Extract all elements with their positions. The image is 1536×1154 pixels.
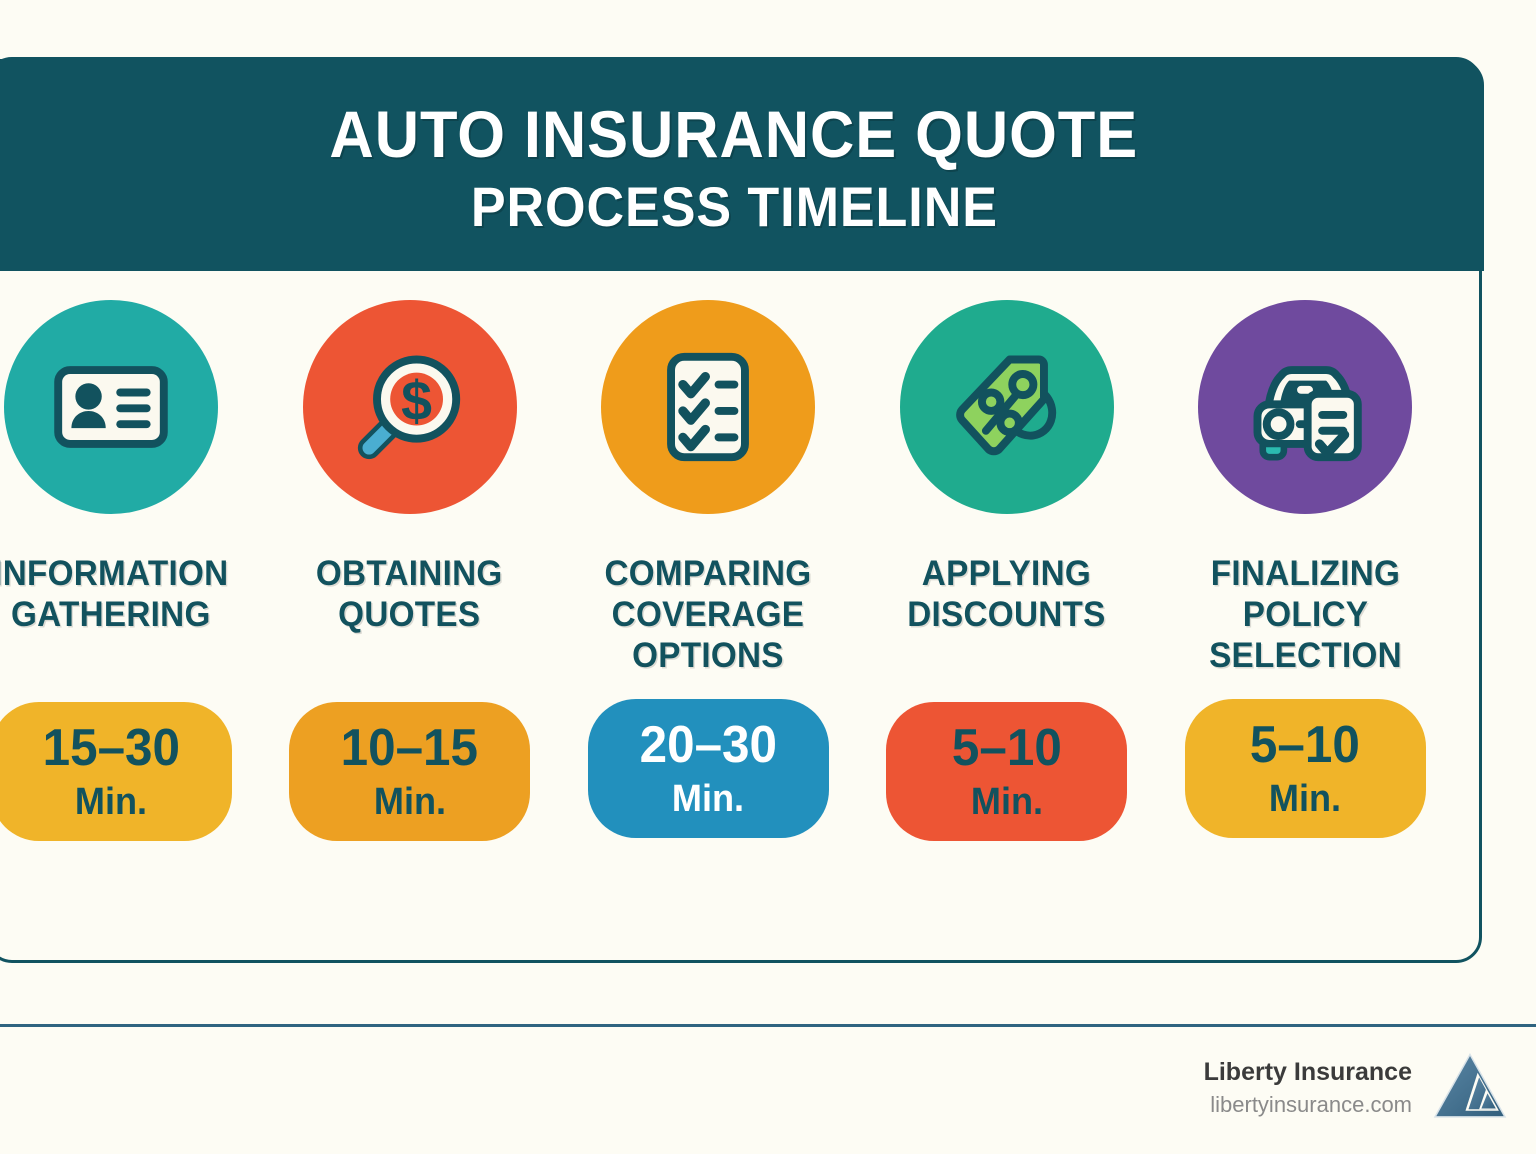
header-banner: Auto Insurance Quote Process Timeline <box>0 59 1484 271</box>
step-5-duration-range: 5–10 <box>1250 719 1360 771</box>
timeline-step-2[interactable]: $ Obtaining Quotes 10–15 Min. <box>275 300 545 841</box>
timeline-step-3[interactable]: Comparing Coverage Options 20–30 Min. <box>573 300 843 838</box>
step-1-label: Information Gathering <box>0 554 229 636</box>
magnifier-dollar-icon: $ <box>344 341 476 473</box>
step-3-icon-circle <box>601 300 815 514</box>
step-2-duration-range: 10–15 <box>341 722 478 774</box>
step-1-duration-unit: Min. <box>75 783 147 821</box>
discount-tag-icon <box>941 341 1073 473</box>
id-card-icon <box>45 341 177 473</box>
step-4-duration-pill: 5–10 Min. <box>886 702 1127 841</box>
footer-text-block: Liberty Insurance libertyinsurance.com <box>1204 1057 1412 1120</box>
step-4-duration-range: 5–10 <box>952 722 1062 774</box>
step-2-icon-circle: $ <box>303 300 517 514</box>
car-policy-icon <box>1239 341 1371 473</box>
step-3-duration-unit: Min. <box>672 780 744 818</box>
step-2-duration-pill: 10–15 Min. <box>289 702 530 841</box>
footer-divider <box>0 1024 1536 1027</box>
footer-branding: Liberty Insurance libertyinsurance.com <box>1204 1050 1508 1126</box>
page-subtitle: Process Timeline <box>470 178 997 235</box>
timeline-step-5[interactable]: Finalizing Policy Selection 5–10 Min. <box>1170 300 1440 838</box>
step-1-duration-pill: 15–30 Min. <box>0 702 232 841</box>
timeline-steps: Information Gathering 15–30 Min. $ Obtai… <box>0 300 1440 841</box>
step-1-duration-range: 15–30 <box>42 722 179 774</box>
page-title: Auto Insurance Quote <box>330 101 1139 168</box>
timeline-step-1[interactable]: Information Gathering 15–30 Min. <box>0 300 246 841</box>
step-3-label: Comparing Coverage Options <box>604 554 811 677</box>
step-5-duration-unit: Min. <box>1269 780 1341 818</box>
brand-url[interactable]: libertyinsurance.com <box>1210 1091 1412 1120</box>
brand-name: Liberty Insurance <box>1204 1057 1412 1088</box>
step-4-label: Applying Discounts <box>907 554 1105 636</box>
step-2-label: Obtaining Quotes <box>316 554 503 636</box>
triangle-logo-icon <box>1432 1050 1508 1126</box>
step-3-duration-pill: 20–30 Min. <box>588 699 829 838</box>
step-5-duration-pill: 5–10 Min. <box>1185 699 1426 838</box>
step-5-icon-circle <box>1198 300 1412 514</box>
timeline-step-4[interactable]: Applying Discounts 5–10 Min. <box>872 300 1142 841</box>
checklist-icon <box>642 341 774 473</box>
step-5-label: Finalizing Policy Selection <box>1209 554 1402 677</box>
step-3-duration-range: 20–30 <box>639 719 776 771</box>
step-4-duration-unit: Min. <box>970 783 1042 821</box>
step-1-icon-circle <box>4 300 218 514</box>
step-2-duration-unit: Min. <box>373 783 445 821</box>
step-4-icon-circle <box>900 300 1114 514</box>
svg-text:$: $ <box>401 370 432 432</box>
